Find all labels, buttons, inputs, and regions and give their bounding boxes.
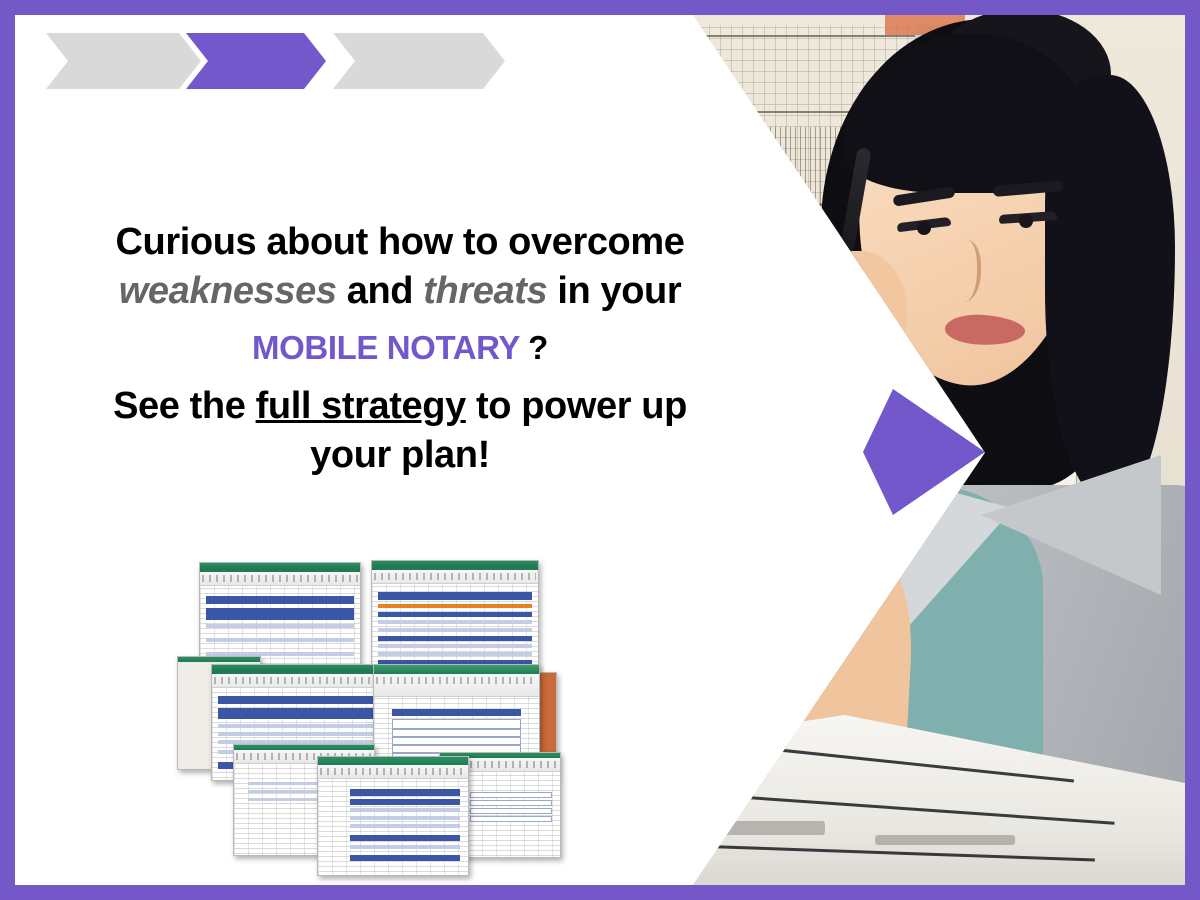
window-ribbon <box>212 674 387 688</box>
pupil-right <box>1019 214 1033 228</box>
table-header-row <box>218 708 381 719</box>
headline-line-5: your plan! <box>70 431 730 480</box>
workbook-thumbnail[interactable] <box>371 560 539 670</box>
window-ribbon <box>372 570 538 584</box>
table-total-row <box>350 835 460 841</box>
headline-and: and <box>337 270 424 312</box>
headline-see-the: See the <box>113 385 256 427</box>
table-data-row <box>350 808 460 812</box>
headline-block: Curious about how to overcome weaknesses… <box>70 218 730 480</box>
table-cell <box>470 808 552 814</box>
chevron-step-1[interactable] <box>46 33 201 89</box>
chart-axis-line <box>675 35 935 37</box>
chevron-step-2-active[interactable] <box>186 33 326 89</box>
chevron-step-3[interactable] <box>333 33 505 89</box>
table-cell <box>392 719 521 729</box>
table-data-row <box>378 628 532 632</box>
table-data-row <box>378 644 532 648</box>
table-header-row <box>378 636 532 641</box>
table-header-row <box>206 608 354 620</box>
table-accent-row <box>378 604 532 608</box>
headline-line-4: See the full strategy to power up <box>70 382 730 431</box>
headline-in-your: in your <box>547 270 681 312</box>
headline-line-3: MOBILE NOTARY ? <box>70 327 730 370</box>
headline-line-2: weaknesses and threats in your <box>70 267 730 316</box>
slide-canvas: Curious about how to overcome weaknesses… <box>0 0 1200 900</box>
table-cell <box>392 737 521 745</box>
sheet-grid <box>318 779 468 876</box>
window-titlebar <box>318 757 468 765</box>
table-data-row <box>350 816 460 820</box>
table-cell <box>470 792 552 798</box>
paper-text-smudge <box>705 821 825 835</box>
table-cell <box>392 729 521 737</box>
table-header-row <box>350 799 460 805</box>
headline-threats: threats <box>423 270 547 312</box>
table-cell <box>470 800 552 806</box>
headline-full-strategy-link[interactable]: full strategy <box>256 385 466 427</box>
slide-inner-canvas: Curious about how to overcome weaknesses… <box>15 15 1185 885</box>
table-title-row <box>392 709 521 716</box>
window-ribbon <box>200 572 360 586</box>
paper-text-smudge <box>875 835 1015 845</box>
wall-teal-panel <box>811 485 851 545</box>
window-ribbon <box>374 674 539 697</box>
table-header-row <box>378 612 532 617</box>
excel-thumbnail-collage[interactable] <box>185 548 545 885</box>
table-group-row <box>206 638 354 642</box>
table-data-row <box>378 620 532 624</box>
progress-ribbon <box>46 33 496 89</box>
window-ribbon <box>318 765 468 779</box>
table-data-row <box>378 652 532 656</box>
table-data-row <box>218 732 381 736</box>
pupil-left <box>917 221 931 235</box>
headline-question-mark: ? <box>519 329 548 366</box>
window-titlebar <box>374 665 539 674</box>
hand <box>815 251 907 371</box>
table-title-row <box>378 592 532 600</box>
nose <box>947 240 981 302</box>
headline-power-up: to power up <box>466 385 687 427</box>
table-cell <box>470 816 552 822</box>
sheet-grid <box>372 584 538 670</box>
headline-business-type: MOBILE NOTARY <box>252 329 519 366</box>
table-data-row <box>350 824 460 828</box>
headline-weaknesses: weaknesses <box>119 270 337 312</box>
workbook-thumbnail[interactable] <box>317 756 469 876</box>
table-total-row <box>350 855 460 861</box>
table-title-row <box>350 789 460 796</box>
table-group-row <box>206 624 354 628</box>
table-data-row <box>218 724 381 728</box>
headline-line-1: Curious about how to overcome <box>70 218 730 267</box>
table-title-row <box>218 696 381 704</box>
table-title-row <box>206 596 354 604</box>
table-data-row <box>350 845 460 849</box>
